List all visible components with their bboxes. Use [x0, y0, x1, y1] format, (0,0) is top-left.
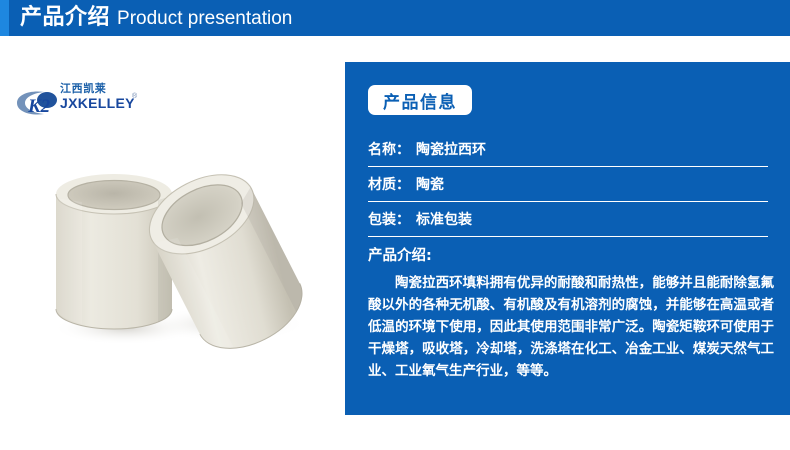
- spec-value-name: 陶瓷拉西环: [416, 139, 486, 159]
- spec-key-name: 名称：: [368, 139, 410, 159]
- brand-logo: K2 江西凯莱 JXKELLEY ®: [14, 80, 144, 120]
- product-description-title: 产品介绍:: [368, 244, 774, 265]
- spec-row-packaging: 包装： 标准包装: [368, 202, 768, 237]
- spec-key-packaging: 包装：: [368, 209, 410, 229]
- product-info-badge-label: 产品信息: [383, 88, 457, 113]
- spec-row-material: 材质： 陶瓷: [368, 167, 768, 202]
- page-title: 产品介绍 Product presentation: [20, 0, 292, 36]
- spec-key-material: 材质：: [368, 174, 410, 194]
- product-info-badge: 产品信息: [368, 85, 472, 115]
- spec-value-packaging: 标准包装: [416, 209, 472, 229]
- svg-text:K2: K2: [27, 96, 51, 115]
- product-description: 产品介绍: 陶瓷拉西环填料拥有优异的耐酸和耐热性，能够并且能耐除氢氟酸以外的各种…: [368, 244, 774, 382]
- product-photo-ceramic-raschig-rings: [20, 146, 325, 361]
- product-media-column: K2 江西凯莱 JXKELLEY ®: [0, 36, 345, 450]
- product-spec-list: 名称： 陶瓷拉西环 材质： 陶瓷 包装： 标准包装: [368, 132, 768, 237]
- product-info-panel: 产品信息 名称： 陶瓷拉西环 材质： 陶瓷 包装： 标准包装 产品介绍: 陶瓷拉…: [345, 62, 790, 415]
- page-title-en: Product presentation: [117, 1, 292, 36]
- page-header-bar: 产品介绍 Product presentation: [0, 0, 790, 36]
- registered-trademark-mark: ®: [132, 93, 137, 100]
- spec-value-material: 陶瓷: [416, 174, 444, 194]
- page-title-cn: 产品介绍: [20, 0, 110, 36]
- header-accent-stripe: [0, 0, 9, 36]
- spec-row-name: 名称： 陶瓷拉西环: [368, 132, 768, 167]
- product-description-body: 陶瓷拉西环填料拥有优异的耐酸和耐热性，能够并且能耐除氢氟酸以外的各种无机酸、有机…: [368, 272, 774, 382]
